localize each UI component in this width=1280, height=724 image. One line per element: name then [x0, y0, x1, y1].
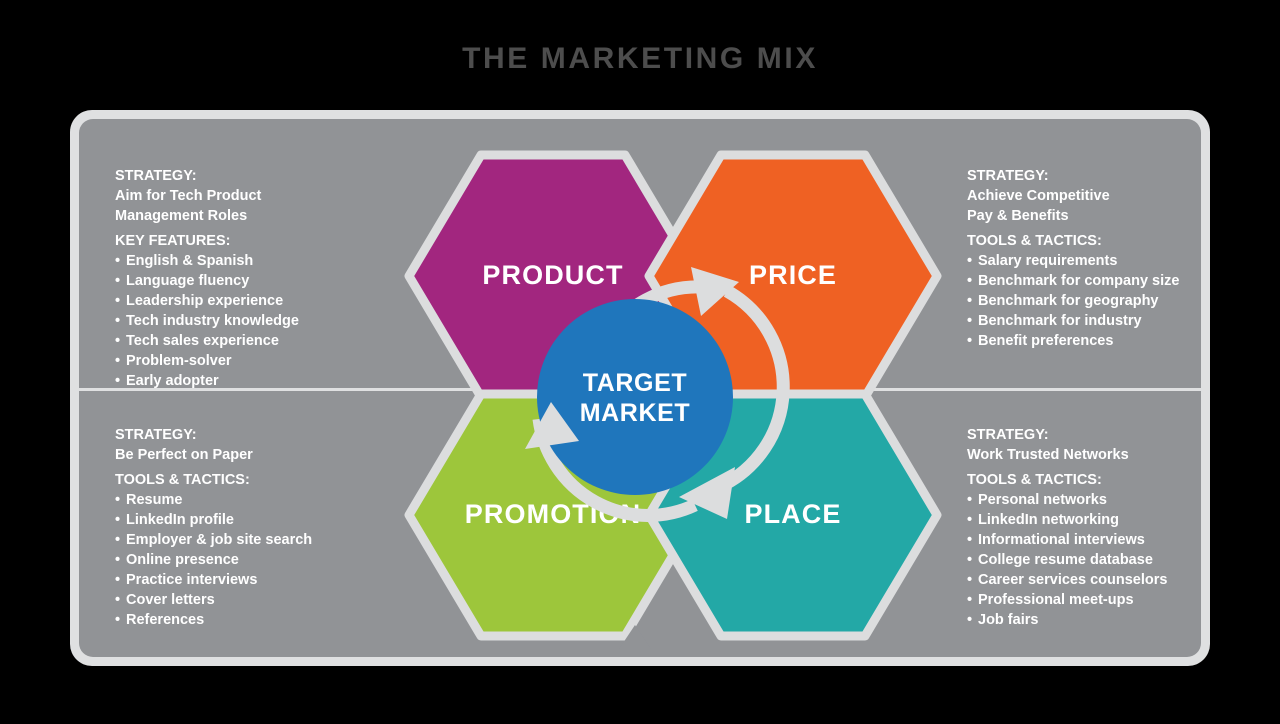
hexagon-product[interactable]: PRODUCT	[409, 155, 697, 397]
list-item: Benchmark for geography	[967, 291, 1201, 311]
hexagon-promotion[interactable]: PROMOTION	[409, 394, 697, 636]
price-strategy-text: Achieve CompetitivePay & Benefits	[967, 186, 1201, 226]
place-strategy-heading: STRATEGY:	[967, 425, 1201, 445]
promotion-strategy-text: Be Perfect on Paper	[115, 445, 375, 465]
product-strategy-heading: STRATEGY:	[115, 166, 375, 186]
place-strategy-text: Work Trusted Networks	[967, 445, 1201, 465]
list-item: Tech industry knowledge	[115, 311, 375, 331]
list-item: College resume database	[967, 550, 1201, 570]
list-item: Informational interviews	[967, 530, 1201, 550]
place-list-heading: TOOLS & TACTICS:	[967, 470, 1201, 490]
place-text-block: STRATEGY: Work Trusted Networks TOOLS & …	[967, 425, 1201, 630]
list-item: LinkedIn networking	[967, 510, 1201, 530]
list-item: Career services counselors	[967, 570, 1201, 590]
circular-flow-ring	[539, 287, 783, 516]
arrow-bottom-right-icon	[679, 467, 735, 519]
arrow-top-right-icon	[691, 267, 739, 316]
hexagon-place-label: PLACE	[744, 499, 841, 529]
list-item: Practice interviews	[115, 570, 375, 590]
marketing-mix-panel: STRATEGY: Aim for Tech ProductManagement…	[70, 110, 1210, 666]
panel-interior: STRATEGY: Aim for Tech ProductManagement…	[79, 119, 1201, 657]
product-text-block: STRATEGY: Aim for Tech ProductManagement…	[115, 166, 375, 391]
product-strategy-text: Aim for Tech ProductManagement Roles	[115, 186, 375, 226]
hexagon-price[interactable]: PRICE	[649, 155, 937, 397]
product-list-heading: KEY FEATURES:	[115, 231, 375, 251]
promotion-text-block: STRATEGY: Be Perfect on Paper TOOLS & TA…	[115, 425, 375, 630]
hexagon-price-label: PRICE	[749, 260, 837, 290]
promotion-list-heading: TOOLS & TACTICS:	[115, 470, 375, 490]
center-label-line1: TARGET	[583, 369, 688, 397]
list-item: Language fluency	[115, 271, 375, 291]
product-item-list: English & Spanish Language fluency Leade…	[115, 251, 375, 391]
price-text-block: STRATEGY: Achieve CompetitivePay & Benef…	[967, 166, 1201, 351]
price-strategy-heading: STRATEGY:	[967, 166, 1201, 186]
place-item-list: Personal networks LinkedIn networking In…	[967, 490, 1201, 630]
page-title: THE MARKETING MIX	[0, 42, 1280, 76]
center-label-line2: MARKET	[580, 399, 691, 427]
flow-arrowheads	[525, 267, 739, 519]
list-item: Resume	[115, 490, 375, 510]
diagram-canvas: THE MARKETING MIX STRATEGY: Aim for Tech…	[0, 0, 1280, 724]
promotion-strategy-heading: STRATEGY:	[115, 425, 375, 445]
list-item: References	[115, 610, 375, 630]
list-item: Benchmark for company size	[967, 271, 1201, 291]
promotion-item-list: Resume LinkedIn profile Employer & job s…	[115, 490, 375, 630]
list-item: English & Spanish	[115, 251, 375, 271]
price-item-list: Salary requirements Benchmark for compan…	[967, 251, 1201, 351]
list-item: Problem-solver	[115, 351, 375, 371]
hexagon-promotion-label: PROMOTION	[465, 499, 641, 529]
arrow-left-icon	[525, 402, 579, 449]
list-item: Cover letters	[115, 590, 375, 610]
list-item: Job fairs	[967, 610, 1201, 630]
center-target-market[interactable]: TARGET MARKET	[537, 299, 733, 495]
ring-arc-top	[603, 287, 703, 341]
list-item: Employer & job site search	[115, 530, 375, 550]
list-item: Benefit preferences	[967, 331, 1201, 351]
price-list-heading: TOOLS & TACTICS:	[967, 231, 1201, 251]
hexagon-place[interactable]: PLACE	[649, 394, 937, 636]
list-item: Early adopter	[115, 371, 375, 391]
list-item: Personal networks	[967, 490, 1201, 510]
list-item: Leadership experience	[115, 291, 375, 311]
center-circle	[537, 299, 733, 495]
list-item: Tech sales experience	[115, 331, 375, 351]
list-item: Benchmark for industry	[967, 311, 1201, 331]
bottom-notch	[619, 625, 651, 649]
ring-arc-bottom	[539, 419, 695, 515]
list-item: Online presence	[115, 550, 375, 570]
list-item: LinkedIn profile	[115, 510, 375, 530]
list-item: Salary requirements	[967, 251, 1201, 271]
hexagon-product-label: PRODUCT	[482, 260, 623, 290]
list-item: Professional meet-ups	[967, 590, 1201, 610]
